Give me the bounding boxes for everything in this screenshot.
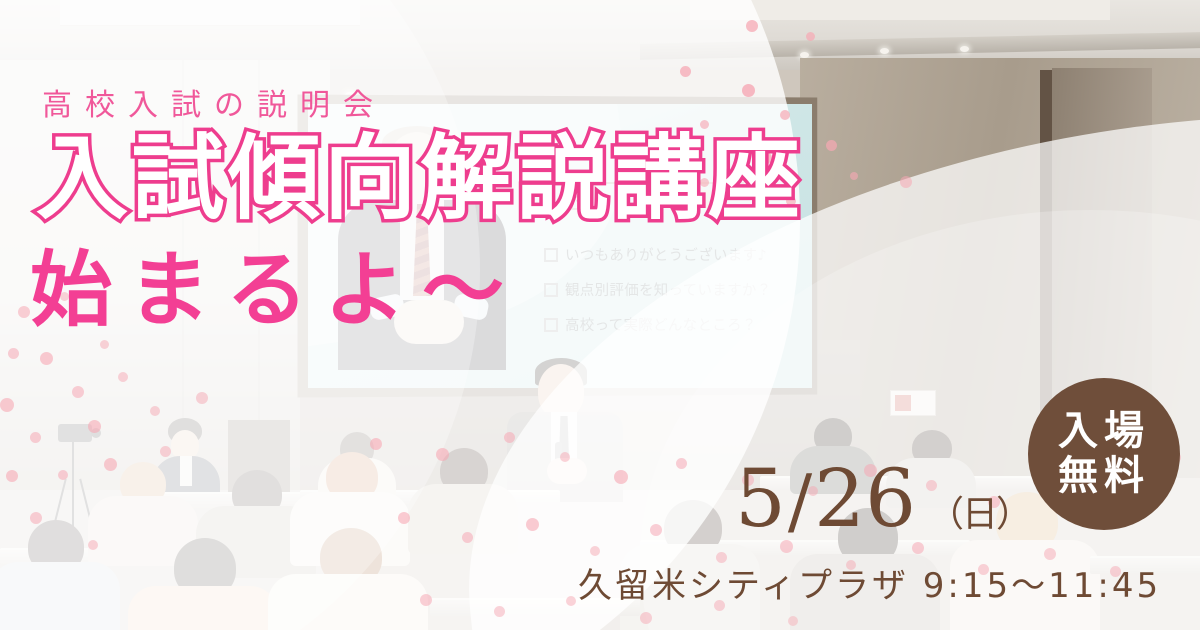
ceiling-spotlight [880,48,889,54]
event-weekday: （日） [928,485,1030,537]
event-day: 26 [814,452,916,545]
free-admission-badge: 入場 無料 [1028,378,1180,530]
event-month: 5 [735,452,786,545]
date-slash: / [788,459,812,543]
poster-title-line2: 始まるよ〜 [30,250,520,332]
poster-subtitle: 高校入試の説明会 [42,80,386,124]
venue-and-time: 久留米シティプラザ 9:15〜11:45 [578,558,1161,607]
event-poster: 新役 いつもありがとうございます♪ 観点別評価を知っていますか？ 高校って実際ど… [0,0,1200,630]
event-date: 5 / 26 （日） [735,452,1030,545]
ceiling-spotlight [960,46,969,52]
free-admission-label: 入場 無料 [1058,409,1150,499]
poster-title-line1: 入試傾向解説講座 [36,132,804,226]
